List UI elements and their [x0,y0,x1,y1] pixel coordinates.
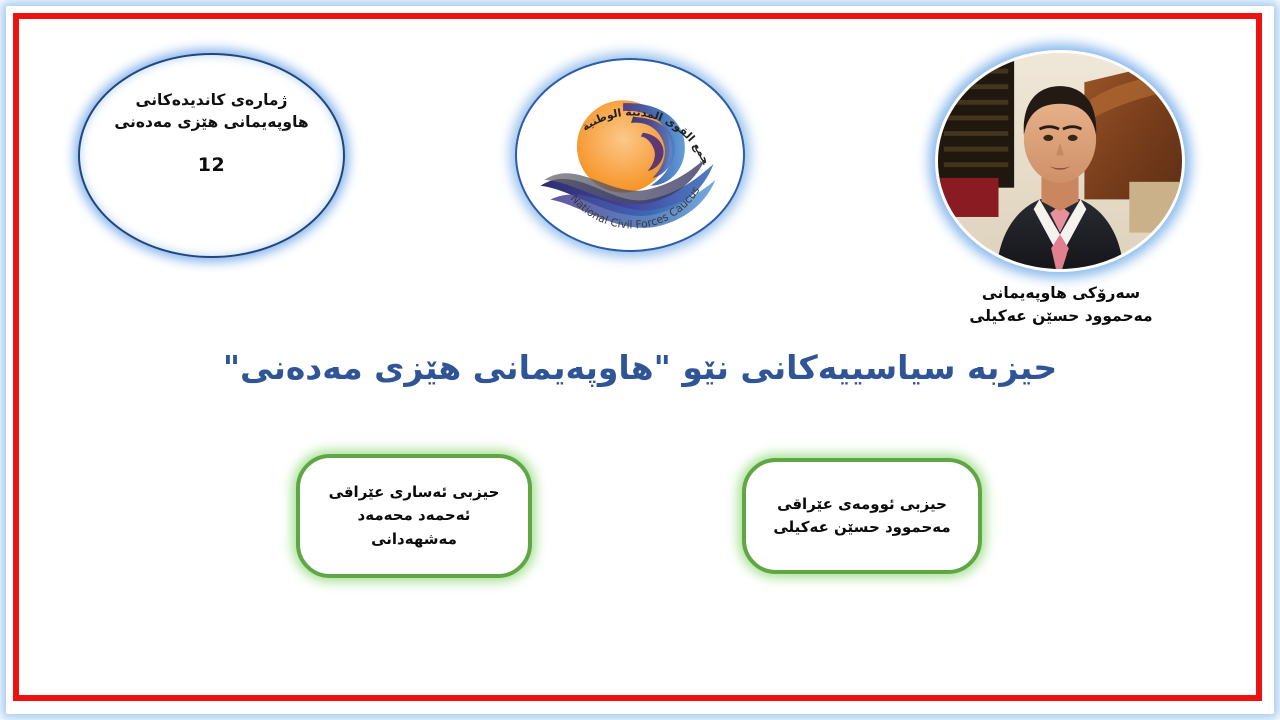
leader-portrait-frame [935,50,1185,272]
candidate-count-badge: ژمارەی کاندیدەکانی هاوپەیمانی هێزی مەدەن… [78,53,345,258]
leader-role: سەرۆکی هاوپەیمانی [930,282,1192,305]
party-card-text: حیزبی ئەساری عێراقی ئەحمەد محەمەد مەشهەد… [319,481,510,551]
slide-canvas: ژمارەی کاندیدەکانی هاوپەیمانی هێزی مەدەن… [0,0,1280,720]
page-title: حیزبە سیاسییەکانی نێو "هاوپەیمانی هێزی م… [120,348,1160,387]
party-leader-line1: ئەحمەد محەمەد [329,504,500,527]
leader-portrait [935,50,1185,272]
party-leader-line1: مەحموود حسێن عەکیلی [773,516,950,539]
organization-logo: تجمع القوى المدنية الوطنية National Civi… [515,58,745,252]
party-name: حیزبی ئوومەی عێراقی [773,493,950,516]
party-name: حیزبی ئەساری عێراقی [329,481,500,504]
party-card-umma-iraqi: حیزبی ئوومەی عێراقی مەحموود حسێن عەکیلی [742,458,982,574]
party-card-text: حیزبی ئوومەی عێراقی مەحموود حسێن عەکیلی [763,493,960,540]
logo-artwork-icon: تجمع القوى المدنية الوطنية National Civi… [517,60,743,251]
candidate-count-value: 12 [198,154,225,176]
party-card-ihsar-iraqi: حیزبی ئەساری عێراقی ئەحمەد محەمەد مەشهەد… [296,454,532,578]
party-leader-line2: مەشهەدانی [329,528,500,551]
leader-name: مەحموود حسێن عەکیلی [930,305,1192,328]
leader-caption: سەرۆکی هاوپەیمانی مەحموود حسێن عەکیلی [930,282,1192,329]
logo-disc: تجمع القوى المدنية الوطنية National Civi… [515,58,745,252]
candidate-count-label: ژمارەی کاندیدەکانی هاوپەیمانی هێزی مەدەن… [112,89,312,134]
leader-photo-icon [938,53,1182,270]
